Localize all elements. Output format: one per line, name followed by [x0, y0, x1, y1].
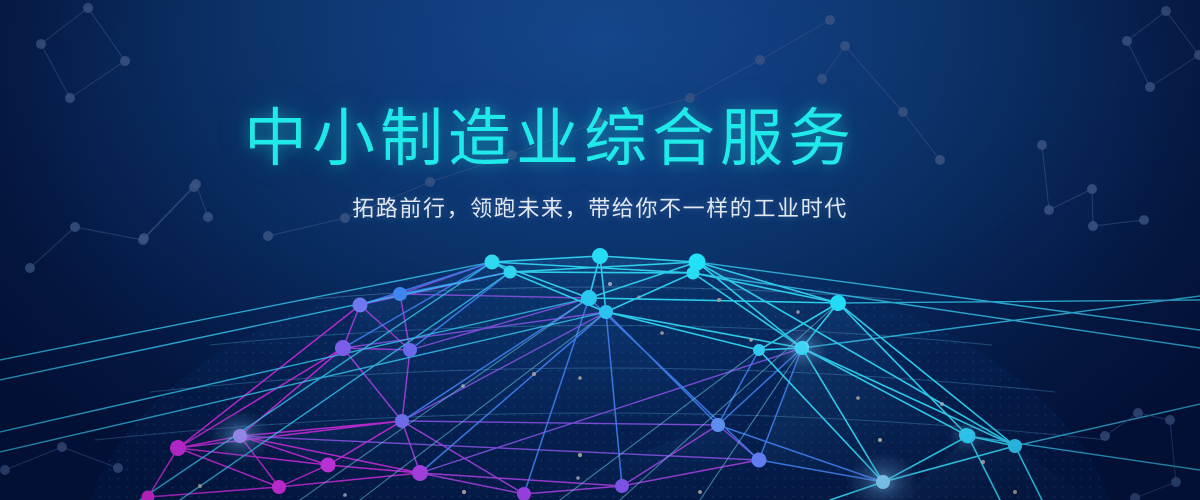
constellation-title-overlay-strand: [263, 15, 835, 241]
constellation-edge: [62, 447, 118, 468]
constellation-edge: [1166, 11, 1199, 55]
constellation-dot: [57, 442, 67, 452]
constellation-dot: [1122, 36, 1132, 46]
constellation-bottom-left-chain: [139, 179, 213, 243]
constellation-dot: [425, 177, 435, 187]
constellation-dot: [593, 117, 603, 127]
constellation-dot: [935, 155, 945, 165]
constellation-dot: [1145, 82, 1155, 92]
constellation-dot: [1171, 477, 1181, 487]
constellation-edge: [5, 447, 62, 470]
constellation-edge: [1127, 41, 1150, 87]
constellation-dot: [120, 56, 130, 66]
constellation-edge: [1150, 55, 1199, 87]
constellation-dot: [340, 213, 350, 223]
constellation-edge: [1105, 413, 1138, 436]
constellation-dot: [1165, 415, 1175, 425]
constellation-left-zigzag: [25, 182, 199, 273]
constellation-edge: [196, 184, 208, 217]
constellation-edge: [88, 8, 125, 61]
constellation-edge: [41, 44, 70, 98]
constellation-dot: [840, 41, 850, 51]
constellation-dot: [113, 463, 123, 473]
constellation-edge: [1127, 11, 1166, 41]
constellation-edge: [1042, 145, 1049, 210]
constellation-edge: [430, 155, 512, 182]
constellation-edge: [30, 227, 75, 268]
constellation-dot: [507, 150, 517, 160]
constellation-dot: [1130, 493, 1140, 500]
constellation-edge: [760, 20, 830, 60]
constellation-dot: [139, 233, 149, 243]
constellation-edge: [268, 218, 345, 236]
constellation-edge: [70, 61, 125, 98]
constellation-edge: [1135, 482, 1176, 498]
constellation-dot: [825, 15, 835, 25]
constellation-edge: [143, 187, 194, 240]
constellation-edge: [1093, 220, 1144, 226]
constellation-dot: [36, 39, 46, 49]
constellation-dot: [70, 222, 80, 232]
constellation-top-left-diamond: [36, 3, 130, 103]
constellation-dot: [0, 465, 10, 475]
constellation-dot: [1088, 221, 1098, 231]
constellation-top-right-diamond: [1122, 6, 1200, 92]
constellation-dot: [1161, 6, 1171, 16]
constellation-dot: [755, 55, 765, 65]
constellation-dot: [1133, 408, 1143, 418]
constellation-edge: [598, 98, 690, 122]
constellation-dot: [898, 107, 908, 117]
constellation-dot: [263, 231, 273, 241]
constellation-dot: [1037, 140, 1047, 150]
constellation-dot: [25, 263, 35, 273]
constellation-dot: [65, 93, 75, 103]
constellation-dot: [83, 3, 93, 13]
constellation-dot: [1087, 184, 1097, 194]
constellation-dot: [1194, 50, 1200, 60]
constellation-edge: [690, 60, 760, 98]
constellation-dot: [203, 212, 213, 222]
constellation-upper-mid-strand: [817, 41, 945, 165]
constellation-edge: [144, 184, 196, 238]
constellation-edge: [41, 8, 88, 44]
constellation-dot: [685, 93, 695, 103]
constellation-dot: [191, 179, 201, 189]
constellation-edge: [903, 112, 940, 160]
constellation-right-zigzag: [1037, 140, 1149, 231]
constellation-edge: [1092, 189, 1093, 226]
constellation-dot: [817, 74, 827, 84]
constellation-dot: [1044, 205, 1054, 215]
constellation-lower-right-chain: [1100, 408, 1181, 500]
hero-banner: 中小制造业综合服务 拓路前行，领跑未来，带给你不一样的工业时代: [0, 0, 1200, 500]
constellation-edge: [845, 46, 903, 112]
constellation-edge: [512, 122, 598, 155]
constellation-edge: [345, 182, 430, 218]
constellation-graphic: [0, 0, 1200, 500]
constellation-edge: [1049, 189, 1092, 210]
constellation-lower-left-tail: [0, 442, 123, 475]
constellation-edge: [822, 46, 845, 79]
constellation-edge: [75, 227, 143, 240]
constellation-edge: [1170, 420, 1176, 482]
constellation-dot: [1100, 431, 1110, 441]
constellation-dot: [1139, 215, 1149, 225]
